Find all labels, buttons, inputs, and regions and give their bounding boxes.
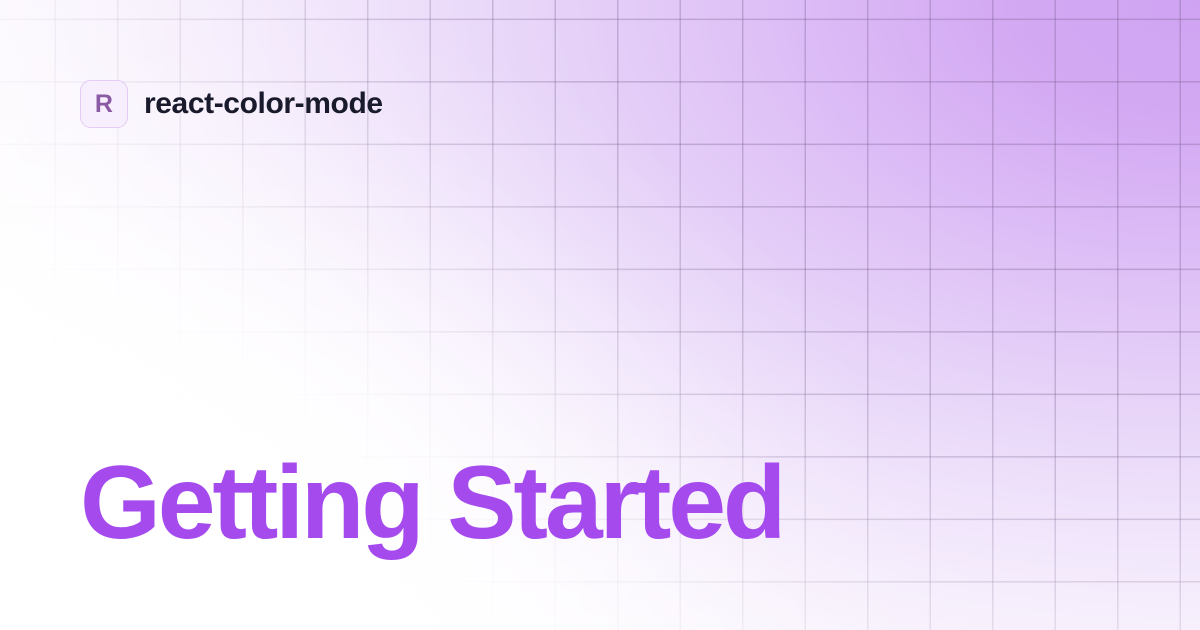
- og-card: R react-color-mode Getting Started: [0, 0, 1200, 630]
- brand-name-label: react-color-mode: [144, 87, 383, 121]
- brand-logo-badge: R: [80, 80, 128, 128]
- page-title: Getting Started: [80, 447, 783, 559]
- brand-header: R react-color-mode: [80, 80, 383, 128]
